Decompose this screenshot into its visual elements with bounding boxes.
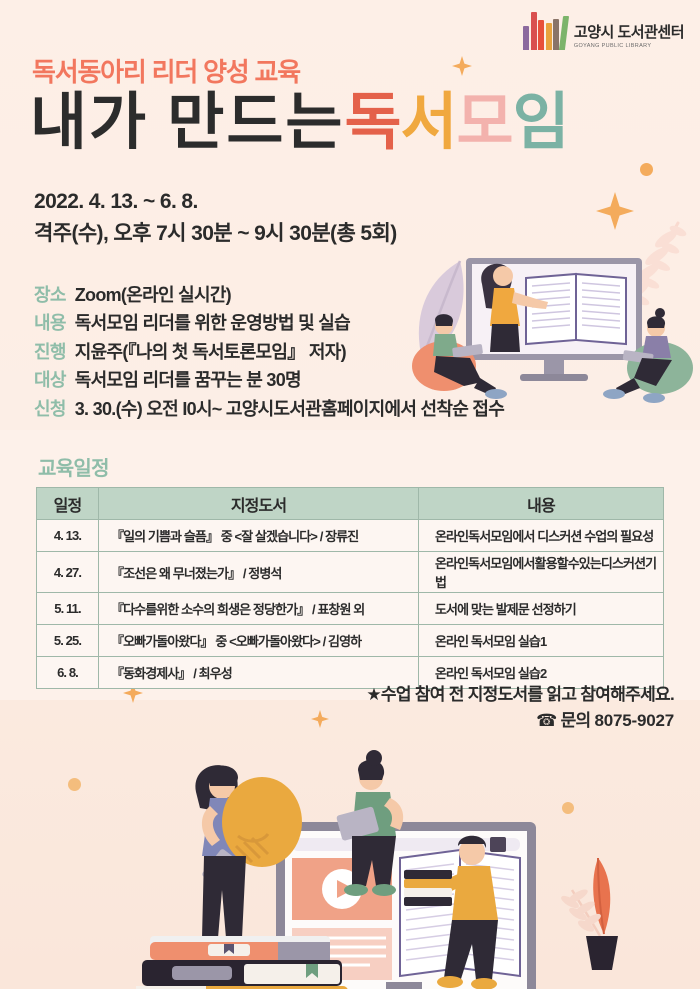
cell-date: 4. 27.	[37, 552, 99, 593]
footer-notes: ★수업 참여 전 지정도서를 읽고 참여해주세요. ☎ 문의 8075-9027	[366, 682, 674, 735]
contact-number: 8075-9027	[595, 711, 675, 730]
cell-content: 온라인 독서모임 실습1	[419, 625, 664, 657]
table-row: 4. 27. 『조선은 왜 무너졌는가』 / 정병석 온라인독서모임에서활용할수…	[37, 552, 664, 593]
library-logo: 고양시 도서관센터 GOYANG PUBLIC LIBRARY	[523, 10, 684, 50]
column-header-content: 내용	[419, 488, 664, 520]
schedule-heading: 교육일정	[38, 452, 109, 481]
schedule-table: 일정 지정도서 내용 4. 13. 『일의 기쁨과 슬픔』 중 <잘 살겠습니다…	[36, 487, 664, 689]
column-header-book: 지정도서	[99, 488, 419, 520]
table-row: 5. 11. 『다수를위한 소수의 희생은 정당한가』 / 표창원 외 도서에 …	[37, 593, 664, 625]
info-row-content: 내용 독서모임 리더를 위한 운영방법 및 실습	[34, 309, 504, 337]
title-char-seo: 서	[400, 88, 456, 157]
info-label-instructor: 진행	[34, 338, 66, 366]
logo-name-ko: 고양시 도서관센터	[574, 25, 684, 41]
info-label-application: 신청	[34, 395, 66, 423]
title-char-dok: 독	[344, 88, 400, 157]
info-row-audience: 대상 독서모임 리더를 꿈꾸는 분 30명	[34, 366, 504, 394]
table-row: 4. 13. 『일의 기쁨과 슬픔』 중 <잘 살겠습니다> / 장류진 온라인…	[37, 520, 664, 552]
logo-text: 고양시 도서관센터 GOYANG PUBLIC LIBRARY	[574, 25, 684, 50]
cell-date: 5. 25.	[37, 625, 99, 657]
info-label-audience: 대상	[34, 366, 66, 394]
cell-book: 『조선은 왜 무너졌는가』 / 정병석	[99, 552, 419, 593]
info-list: 장소 Zoom(온라인 실시간) 내용 독서모임 리더를 위한 운영방법 및 실…	[34, 281, 504, 423]
info-row-venue: 장소 Zoom(온라인 실시간)	[34, 281, 504, 309]
cell-date: 4. 13.	[37, 520, 99, 552]
period-time: 격주(수), 오후 7시 30분 ~ 9시 30분(총 5회)	[34, 218, 397, 250]
illustration-learning-scene	[0, 730, 700, 989]
title-char-mo: 모	[457, 88, 513, 157]
info-value-venue: Zoom(온라인 실시간)	[75, 281, 231, 309]
info-label-content: 내용	[34, 309, 66, 337]
cell-content: 온라인독서모임에서 디스커션 수업의 필요성	[419, 520, 664, 552]
cell-book: 『오빠가돌아왔다』 중 <오빠가돌아왔다> / 김영하	[99, 625, 419, 657]
cell-content: 온라인독서모임에서활용할수있는디스커션기법	[419, 552, 664, 593]
dot-decoration-1	[640, 163, 653, 176]
schedule-table-wrapper: 일정 지정도서 내용 4. 13. 『일의 기쁨과 슬픔』 중 <잘 살겠습니다…	[36, 487, 664, 689]
info-value-application: 3. 30.(수) 오전 I0시~ 고양시도서관홈페이지에서 선착순 접수	[75, 395, 504, 423]
cell-content: 도서에 맞는 발제문 선정하기	[419, 593, 664, 625]
logo-books-icon	[523, 10, 567, 50]
cell-book: 『일의 기쁨과 슬픔』 중 <잘 살겠습니다> / 장류진	[99, 520, 419, 552]
info-label-venue: 장소	[34, 281, 66, 309]
info-value-content: 독서모임 리더를 위한 운영방법 및 실습	[75, 309, 350, 337]
cell-book: 『다수를위한 소수의 희생은 정당한가』 / 표창원 외	[99, 593, 419, 625]
info-value-audience: 독서모임 리더를 꿈꾸는 분 30명	[75, 366, 301, 394]
column-header-date: 일정	[37, 488, 99, 520]
poster-title: 내가 만드는독서모임	[30, 92, 569, 154]
cell-date: 5. 11.	[37, 593, 99, 625]
phone-icon: ☎	[536, 711, 556, 730]
info-value-instructor: 지윤주(『나의 첫 독서토론모임』 저자)	[75, 338, 346, 366]
poster-subtitle: 독서동아리 리더 양성 교육	[32, 52, 300, 89]
schedule-period: 2022. 4. 13. ~ 6. 8. 격주(수), 오후 7시 30분 ~ …	[34, 186, 397, 249]
cell-date: 6. 8.	[37, 657, 99, 689]
table-header-row: 일정 지정도서 내용	[37, 488, 664, 520]
info-row-instructor: 진행 지윤주(『나의 첫 독서토론모임』 저자)	[34, 338, 504, 366]
poster-root: 고양시 도서관센터 GOYANG PUBLIC LIBRARY 독서동아리 리더…	[0, 0, 700, 989]
title-part-1: 내가 만드는	[30, 88, 344, 157]
period-dates: 2022. 4. 13. ~ 6. 8.	[34, 186, 397, 218]
info-row-application: 신청 3. 30.(수) 오전 I0시~ 고양시도서관홈페이지에서 선착순 접수	[34, 395, 504, 423]
table-row: 5. 25. 『오빠가돌아왔다』 중 <오빠가돌아왔다> / 김영하 온라인 독…	[37, 625, 664, 657]
logo-name-en: GOYANG PUBLIC LIBRARY	[574, 43, 684, 49]
contact-label: 문의	[561, 711, 591, 730]
title-char-im: 임	[513, 88, 569, 157]
note-reminder: ★수업 참여 전 지정도서를 읽고 참여해주세요.	[366, 682, 674, 708]
